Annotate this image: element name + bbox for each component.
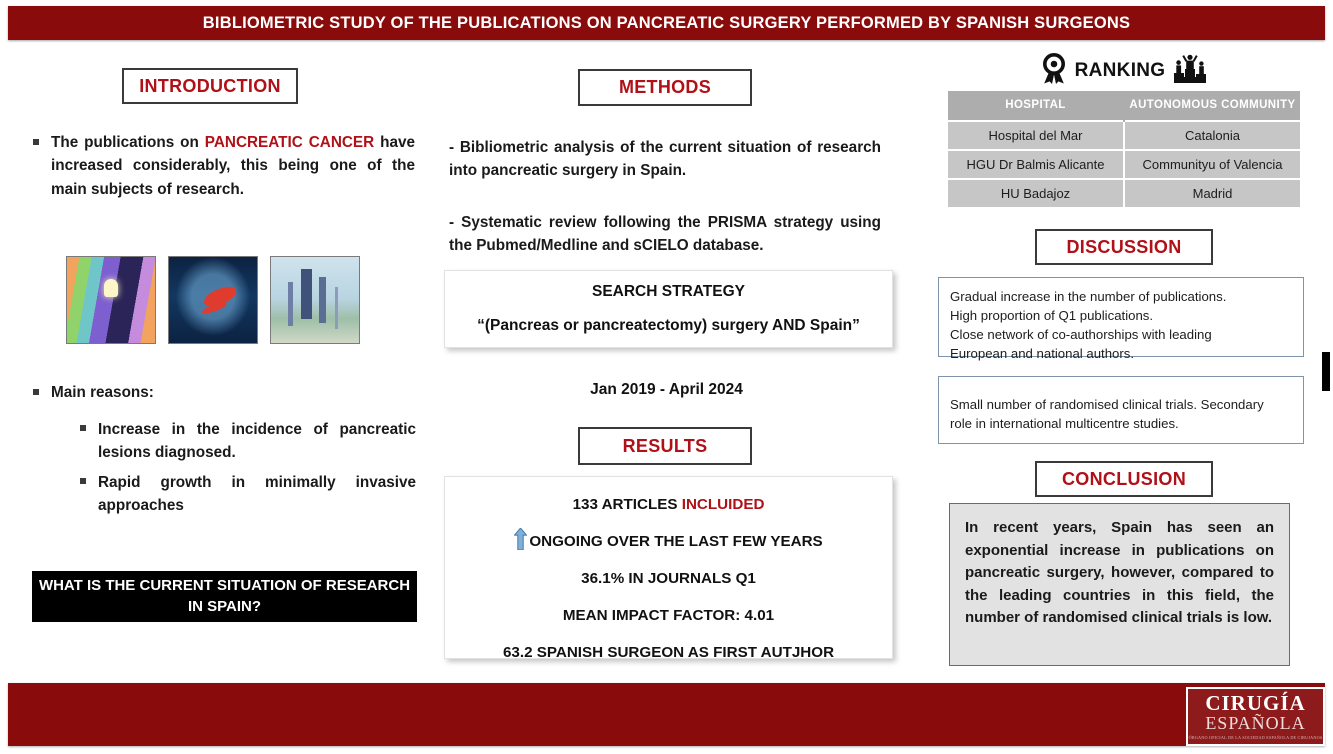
intro-text-emphasis: PANCREATIC CANCER (205, 134, 374, 151)
result-line-1-highlight: INCLUIDED (682, 496, 765, 513)
result-line-3: 36.1% IN JOURNALS Q1 (445, 560, 892, 597)
result-line-1: 133 ARTICLES INCLUIDED (445, 486, 892, 523)
discussion-box-strengths: Gradual increase in the number of public… (938, 277, 1304, 357)
podium-icon (1173, 54, 1207, 89)
section-heading-methods: METHODS (578, 69, 752, 106)
sub-bullet-1-text: Increase in the incidence of pancreatic … (98, 418, 416, 465)
intro-image-row (66, 256, 360, 344)
bullet-square-icon (80, 478, 86, 484)
section-heading-discussion: DISCUSSION (1035, 229, 1213, 265)
intro-main-bullet: The publications on PANCREATIC CANCER ha… (33, 131, 415, 201)
ranking-cell-community-3: Madrid (1124, 179, 1300, 207)
ranking-column-autonomous-community: AUTONOMOUS COMMUNITY (1124, 91, 1300, 121)
discussion-line-1: Gradual increase in the number of public… (950, 287, 1292, 306)
conclusion-text: In recent years, Spain has seen an expon… (965, 517, 1274, 630)
bullet-square-icon (33, 389, 39, 395)
intro-main-reasons-bullet: Main reasons: (33, 381, 415, 404)
results-list: 133 ARTICLES INCLUIDED ONGOING OVER THE … (445, 477, 892, 671)
section-heading-introduction: INTRODUCTION (122, 68, 298, 104)
robotic-surgery-photo-image (270, 256, 360, 344)
table-row: HU Badajoz Madrid (948, 179, 1300, 207)
results-card: 133 ARTICLES INCLUIDED ONGOING OVER THE … (444, 476, 893, 659)
introduction-heading-label: INTRODUCTION (139, 76, 281, 97)
search-strategy-title: SEARCH STRATEGY (445, 283, 892, 301)
discussion-line-2: High proportion of Q1 publications. (950, 306, 1292, 325)
methods-bullet-1: - Bibliometric analysis of the current s… (449, 136, 881, 183)
arrow-up-icon (514, 528, 527, 550)
methods-bullet-2: - Systematic review following the PRISMA… (449, 211, 881, 258)
result-line-1-text: 133 ARTICLES (573, 496, 682, 513)
discussion-line-4: European and national authors. (950, 344, 1292, 363)
bullet-square-icon (33, 139, 39, 145)
section-heading-results: RESULTS (578, 427, 752, 465)
result-line-5: 63.2 SPANISH SURGEON AS FIRST AUTJHOR (445, 634, 892, 671)
main-reasons-label: Main reasons: (51, 381, 154, 404)
ranking-column-hospital: HOSPITAL (948, 91, 1124, 121)
discussion-heading-label: DISCUSSION (1066, 237, 1181, 258)
research-idea-illustration-image (66, 256, 156, 344)
bullet-square-icon (80, 425, 86, 431)
conclusion-box: In recent years, Spain has seen an expon… (949, 503, 1290, 666)
pancreas-anatomy-render-image (168, 256, 258, 344)
ranking-heading-label: RANKING (1075, 60, 1166, 82)
ranking-cell-hospital-2: HGU Dr Balmis Alicante (948, 150, 1124, 179)
ranking-cell-community-2: Communityu of Valencia (1124, 150, 1300, 179)
journal-logo-subtitle: ÓRGANO OFICIAL DE LA SOCIEDAD ESPAÑOLA D… (1189, 735, 1323, 740)
discussion-limitation-line-2: role in international multicentre studie… (950, 414, 1292, 433)
conclusion-heading-label: CONCLUSION (1062, 469, 1186, 490)
research-question-text: WHAT IS THE CURRENT SITUATION OF RESEARC… (32, 576, 417, 617)
result-line-2-text: ONGOING OVER THE LAST FEW YEARS (529, 533, 822, 550)
intro-sub-bullet-2: Rapid growth in minimally invasive appro… (80, 471, 416, 518)
results-heading-label: RESULTS (623, 436, 708, 457)
result-line-4: MEAN IMPACT FACTOR: 4.01 (445, 597, 892, 634)
search-strategy-card: SEARCH STRATEGY “(Pancreas or pancreatec… (444, 270, 893, 348)
intro-sub-bullet-1: Increase in the incidence of pancreatic … (80, 418, 416, 465)
ranking-cell-hospital-3: HU Badajoz (948, 179, 1124, 207)
poster-title: BIBLIOMETRIC STUDY OF THE PUBLICATIONS O… (203, 14, 1130, 33)
award-rosette-icon (1041, 53, 1067, 90)
table-row: Hospital del Mar Catalonia (948, 121, 1300, 150)
result-line-2: ONGOING OVER THE LAST FEW YEARS (445, 523, 892, 560)
methods-heading-label: METHODS (619, 77, 711, 98)
intro-text-part-1: The publications on (51, 134, 205, 151)
journal-logo-line-2: ESPAÑOLA (1205, 714, 1305, 733)
right-edge-marker (1322, 352, 1330, 391)
discussion-box-limitations: Small number of randomised clinical tria… (938, 376, 1304, 444)
footer-banner (8, 683, 1325, 746)
poster-canvas: BIBLIOMETRIC STUDY OF THE PUBLICATIONS O… (0, 0, 1333, 754)
journal-logo: CIRUGÍA ESPAÑOLA ÓRGANO OFICIAL DE LA SO… (1186, 687, 1325, 746)
research-question-callout: WHAT IS THE CURRENT SITUATION OF RESEARC… (32, 571, 417, 622)
discussion-line-3: Close network of co-authorships with lea… (950, 325, 1292, 344)
search-strategy-query: “(Pancreas or pancreatectomy) surgery AN… (445, 317, 892, 335)
discussion-limitation-line-1: Small number of randomised clinical tria… (950, 395, 1292, 414)
intro-paragraph: The publications on PANCREATIC CANCER ha… (51, 131, 415, 201)
table-row: HGU Dr Balmis Alicante Communityu of Val… (948, 150, 1300, 179)
journal-logo-line-1: CIRUGÍA (1205, 693, 1305, 714)
ranking-cell-community-1: Catalonia (1124, 121, 1300, 150)
section-heading-conclusion: CONCLUSION (1035, 461, 1213, 497)
poster-title-banner: BIBLIOMETRIC STUDY OF THE PUBLICATIONS O… (8, 6, 1325, 40)
sub-bullet-2-text: Rapid growth in minimally invasive appro… (98, 471, 416, 518)
ranking-table: HOSPITAL AUTONOMOUS COMMUNITY Hospital d… (948, 91, 1300, 207)
ranking-table-header-row: HOSPITAL AUTONOMOUS COMMUNITY (948, 91, 1300, 121)
study-date-range: Jan 2019 - April 2024 (444, 381, 889, 399)
ranking-header: RANKING (948, 53, 1300, 89)
ranking-cell-hospital-1: Hospital del Mar (948, 121, 1124, 150)
